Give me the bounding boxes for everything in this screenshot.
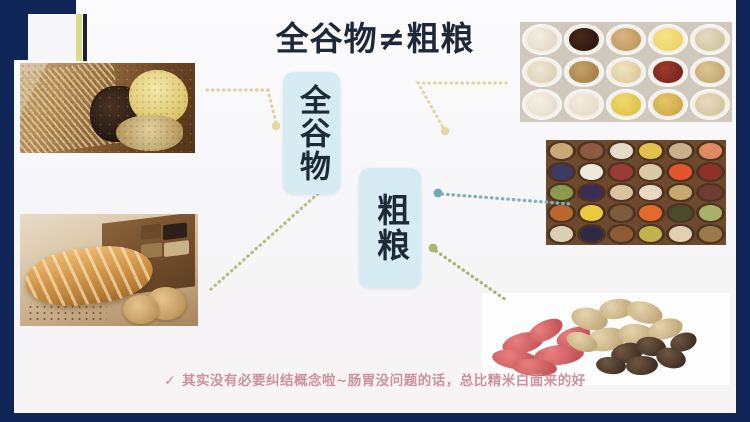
grain-bowl xyxy=(564,24,604,55)
bean-bowl xyxy=(696,141,725,161)
bean-bowl xyxy=(607,141,636,161)
bread-loaf-photo xyxy=(20,214,198,326)
bean-bowl xyxy=(607,183,636,203)
bread-slice xyxy=(123,295,159,324)
node-coarse-grain[interactable]: 粗粮 xyxy=(359,168,421,288)
bean-bowl xyxy=(577,183,606,203)
bean-bowl xyxy=(577,141,606,161)
bean-bowl xyxy=(547,224,576,244)
bean-bowl xyxy=(637,224,666,244)
connector-whole-grain-to-bowls xyxy=(418,83,506,135)
bread-crumbs xyxy=(27,304,107,322)
bean-bowl xyxy=(696,224,725,244)
bean-bowl xyxy=(577,224,606,244)
tray-cell xyxy=(141,224,161,240)
bean-bowl xyxy=(547,203,576,223)
footer-caption-text: 其实没有必要纠结概念啦~肠胃没问题的话，总比精米白面来的好 xyxy=(182,373,586,389)
bean-bowl xyxy=(547,162,576,182)
bean-bowl xyxy=(607,203,636,223)
grain-bowl xyxy=(648,57,688,88)
bean-bowl xyxy=(547,141,576,161)
node-whole-grain[interactable]: 全谷物 xyxy=(283,72,340,194)
bean-bowl xyxy=(696,203,725,223)
bean-bowl xyxy=(577,162,606,182)
slide-canvas: 全谷物≠粗粮 xyxy=(14,0,736,413)
bowls-grid xyxy=(520,22,732,122)
bean-bowl xyxy=(666,141,695,161)
grain-bowl xyxy=(564,57,604,88)
bean-bowl xyxy=(637,141,666,161)
grain-bowl xyxy=(564,89,604,120)
grain-bowl xyxy=(606,24,646,55)
tray-cell xyxy=(164,240,189,257)
grain-bowls-grid-photo xyxy=(520,22,732,122)
connector-coarse-grain-to-potatoes xyxy=(429,244,506,300)
bean-bowl xyxy=(607,224,636,244)
grain-bowl xyxy=(522,57,562,88)
bean-bowl xyxy=(637,183,666,203)
grain-bowl xyxy=(522,24,562,55)
node-coarse-grain-label: 粗粮 xyxy=(373,193,408,263)
bean-bowl xyxy=(637,203,666,223)
check-icon: ✓ xyxy=(164,373,176,389)
bean-bowl xyxy=(637,162,666,182)
grains-on-wood-photo xyxy=(20,63,195,153)
grain-bowl xyxy=(522,89,562,120)
grain-bowl xyxy=(690,89,730,120)
bowls-grid xyxy=(546,140,726,245)
bean-bowl xyxy=(666,162,695,182)
grain-bowl xyxy=(690,57,730,88)
bean-bowl xyxy=(666,183,695,203)
grain-bowl xyxy=(648,89,688,120)
grain-bowl xyxy=(606,57,646,88)
footer-caption: ✓其实没有必要纠结概念啦~肠胃没问题的话，总比精米白面来的好 xyxy=(14,369,736,389)
bean-bowl xyxy=(666,203,695,223)
grain-bowl xyxy=(606,89,646,120)
grain-speckle-texture xyxy=(20,63,195,153)
bean-bowl xyxy=(577,203,606,223)
grain-bowl xyxy=(690,24,730,55)
tray-cell xyxy=(163,223,187,241)
slide-root: 全谷物≠粗粮 xyxy=(0,0,750,422)
bean-bowl xyxy=(607,162,636,182)
connector-whole-grain-to-grains xyxy=(204,90,280,130)
connector-whole-grain-to-bread xyxy=(210,182,329,290)
node-whole-grain-label: 全谷物 xyxy=(295,84,328,183)
bean-bowl xyxy=(666,224,695,244)
bean-bowl xyxy=(696,183,725,203)
bean-bowl xyxy=(696,162,725,182)
bean-bowls-grid-photo xyxy=(546,140,726,245)
bean-bowl xyxy=(547,183,576,203)
grain-bowl xyxy=(648,24,688,55)
